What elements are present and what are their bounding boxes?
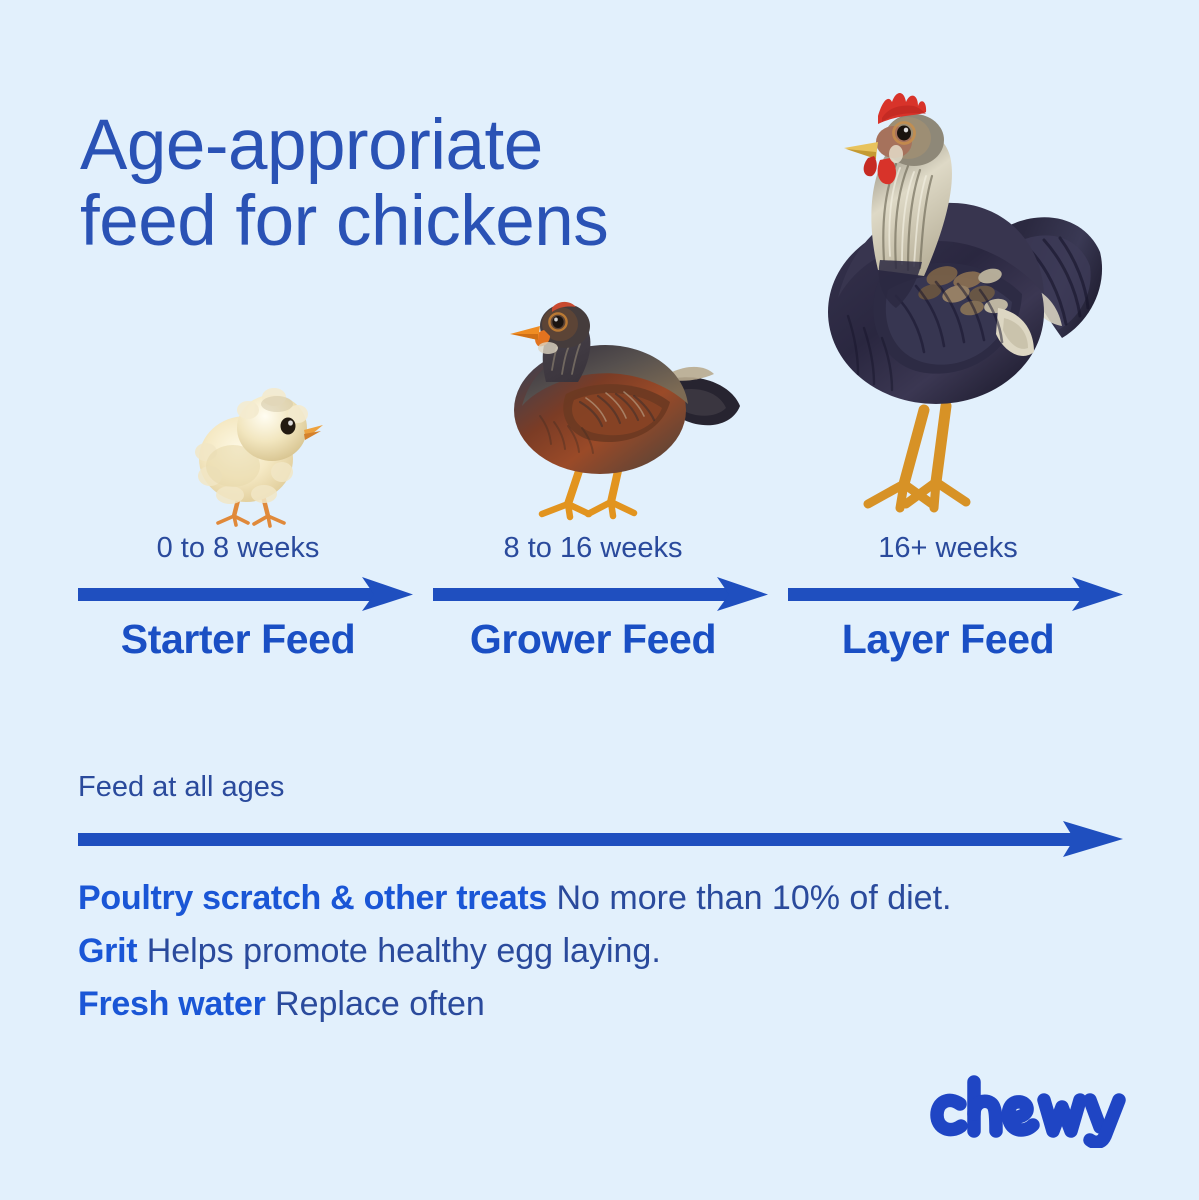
adult-hen-image — [728, 80, 1113, 540]
stage-age-label: 16+ weeks — [788, 533, 1108, 565]
list-item-description: Helps promote healthy egg laying. — [147, 932, 661, 970]
right-arrow-icon — [78, 821, 1123, 857]
list-item-description: No more than 10% of diet. — [556, 879, 951, 917]
stage-age-label: 0 to 8 weeks — [78, 533, 398, 565]
right-arrow-icon — [788, 577, 1123, 611]
stage-feed-name: Starter Feed — [78, 617, 398, 662]
right-arrow-icon — [433, 577, 768, 611]
list-item: Grit Helps promote healthy egg laying. — [78, 928, 1138, 975]
list-item: Fresh water Replace often — [78, 981, 1138, 1028]
stage-grower: 8 to 16 weeks Grower Feed — [433, 533, 768, 688]
baby-chick-image — [178, 380, 328, 540]
list-item-term: Poultry scratch & other treats — [78, 879, 547, 917]
juvenile-pullet-image — [448, 290, 748, 540]
all-ages-section: Feed at all ages — [78, 770, 1123, 857]
feed-stage-timeline: 0 to 8 weeks Starter Feed 8 to 16 weeks … — [78, 533, 1118, 688]
list-item-term: Fresh water — [78, 985, 266, 1023]
all-ages-item-list: Poultry scratch & other treats No more t… — [78, 875, 1138, 1034]
bird-illustration-group — [0, 70, 1199, 540]
list-item-description: Replace often — [275, 985, 485, 1023]
infographic-canvas: Age-approriate feed for chickens — [0, 0, 1199, 1200]
all-ages-label: Feed at all ages — [78, 770, 1123, 805]
stage-feed-name: Layer Feed — [788, 617, 1108, 662]
stage-layer: 16+ weeks Layer Feed — [788, 533, 1123, 688]
stage-feed-name: Grower Feed — [433, 617, 753, 662]
list-item: Poultry scratch & other treats No more t… — [78, 875, 1138, 922]
stage-starter: 0 to 8 weeks Starter Feed — [78, 533, 413, 688]
stage-age-label: 8 to 16 weeks — [433, 533, 753, 565]
list-item-term: Grit — [78, 932, 137, 970]
chewy-logo — [927, 1074, 1127, 1148]
right-arrow-icon — [78, 577, 413, 611]
